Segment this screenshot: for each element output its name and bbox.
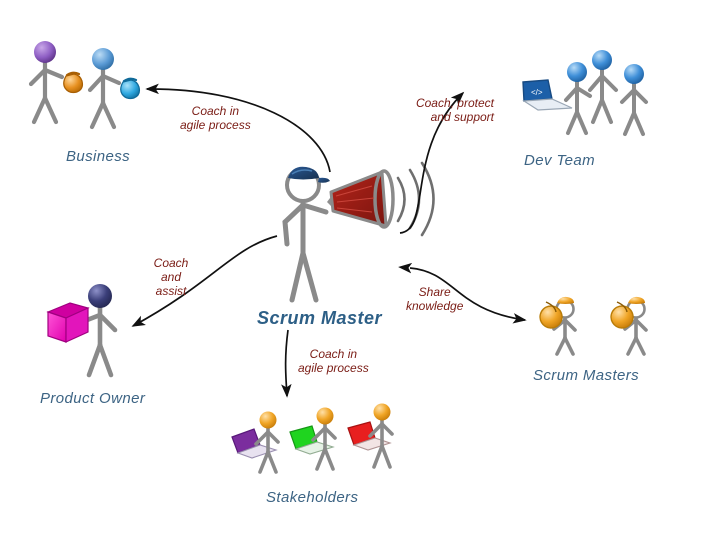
- edge-label-line: Share: [406, 285, 463, 299]
- node-label-business: Business: [66, 148, 130, 165]
- edge-label-line: and support: [384, 110, 494, 124]
- edge-label-scrum-masters: Share knowledge: [406, 285, 463, 313]
- edge-label-line: Coach in: [180, 104, 251, 118]
- edge-label-line: and: [147, 270, 195, 284]
- edge-label-line: Coach in: [298, 347, 369, 361]
- edge-label-product-owner: Coach and assist: [147, 256, 195, 298]
- node-label-dev-team: Dev Team: [524, 152, 595, 169]
- edge-label-line: Coach, protect: [384, 96, 494, 110]
- edge-label-line: agile process: [180, 118, 251, 132]
- node-label-product-owner: Product Owner: [40, 390, 145, 407]
- edge-label-business: Coach in agile process: [180, 104, 251, 132]
- node-label-stakeholders: Stakeholders: [266, 489, 358, 506]
- node-label-scrum-masters: Scrum Masters: [533, 367, 639, 384]
- edge-label-dev-team: Coach, protect and support: [384, 96, 494, 124]
- edge-label-line: agile process: [298, 361, 369, 375]
- edge-label-line: knowledge: [406, 299, 463, 313]
- edge-label-line: assist: [147, 284, 195, 298]
- edges-layer: [0, 0, 720, 540]
- edge-stakeholders-arrow: [286, 330, 288, 396]
- node-label-scrum-master: Scrum Master: [257, 308, 382, 329]
- edge-label-stakeholders: Coach in agile process: [298, 347, 369, 375]
- edge-label-line: Coach: [147, 256, 195, 270]
- diagram-canvas: </>: [0, 0, 720, 540]
